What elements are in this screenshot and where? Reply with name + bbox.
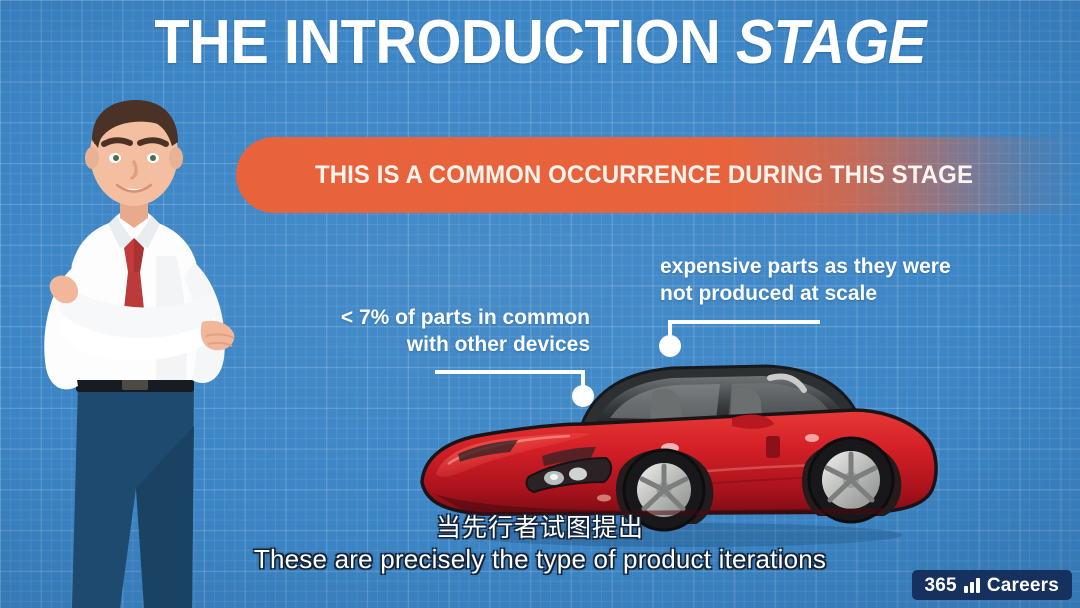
subtitle-block: 当先行者试图提出 These are precisely the type of… xyxy=(0,514,1080,575)
brand-logo: 365 Careers xyxy=(912,570,1073,600)
logo-number: 365 xyxy=(925,576,957,595)
callout-right-connector xyxy=(650,310,840,372)
callout-label-left: < 7% of parts in common with other devic… xyxy=(300,305,590,359)
bar-chart-icon xyxy=(964,578,980,593)
callout-label-right: expensive parts as they were not produce… xyxy=(660,254,960,308)
page-title: THE INTRODUCTION STAGE xyxy=(38,12,1042,74)
highlight-banner-text: THIS IS A COMMON OCCURRENCE DURING THIS … xyxy=(294,159,995,192)
callout-left-connector xyxy=(420,358,610,418)
dot-marker-icon xyxy=(572,385,594,407)
dot-marker-icon xyxy=(659,335,681,357)
page-title-main: THE INTRODUCTION xyxy=(154,8,735,77)
subtitle-chinese: 当先行者试图提出 xyxy=(0,514,1080,542)
highlight-banner: THIS IS A COMMON OCCURRENCE DURING THIS … xyxy=(236,137,1080,213)
slide-canvas: THE INTRODUCTION STAGE THIS IS A COMMON … xyxy=(0,0,1080,608)
page-title-emphasis: STAGE xyxy=(736,8,926,77)
logo-word: Careers xyxy=(987,576,1059,595)
